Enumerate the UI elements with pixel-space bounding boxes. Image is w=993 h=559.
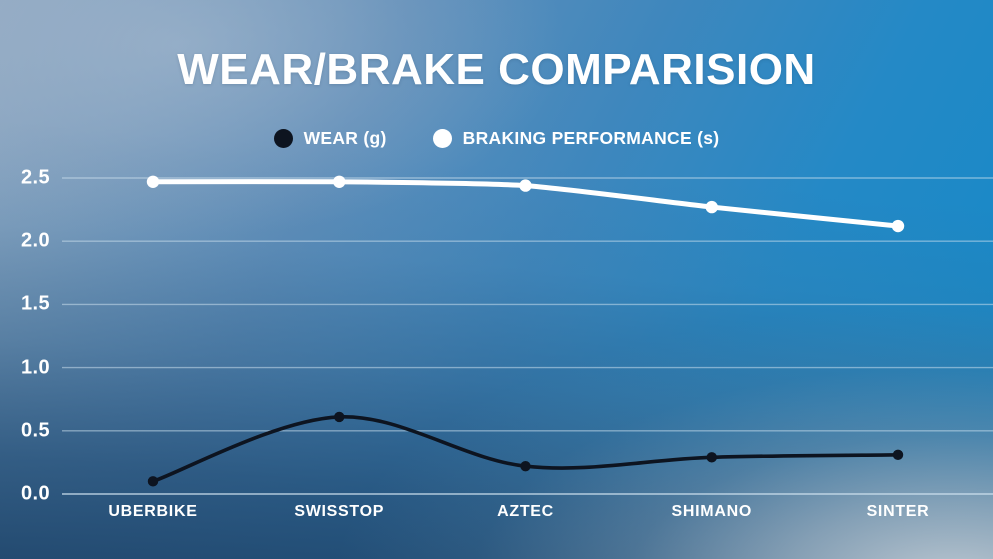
x-axis-tick-label-sinter: SINTER (867, 503, 930, 521)
plot-area: 0.00.51.01.52.02.5 UBERBIKESWISSTOPAZTEC… (0, 0, 993, 559)
chart-canvas: WEAR/BRAKE COMPARISION WEAR (g) BRAKING … (0, 0, 993, 559)
x-axis-tick-label-aztec: AZTEC (497, 503, 554, 521)
x-axis-tick-label-swisstop: SWISSTOP (294, 503, 384, 521)
x-axis-tick-labels: UBERBIKESWISSTOPAZTECSHIMANOSINTER (0, 0, 993, 559)
x-axis-tick-label-shimano: SHIMANO (672, 503, 752, 521)
x-axis-tick-label-uberbike: UBERBIKE (108, 503, 197, 521)
